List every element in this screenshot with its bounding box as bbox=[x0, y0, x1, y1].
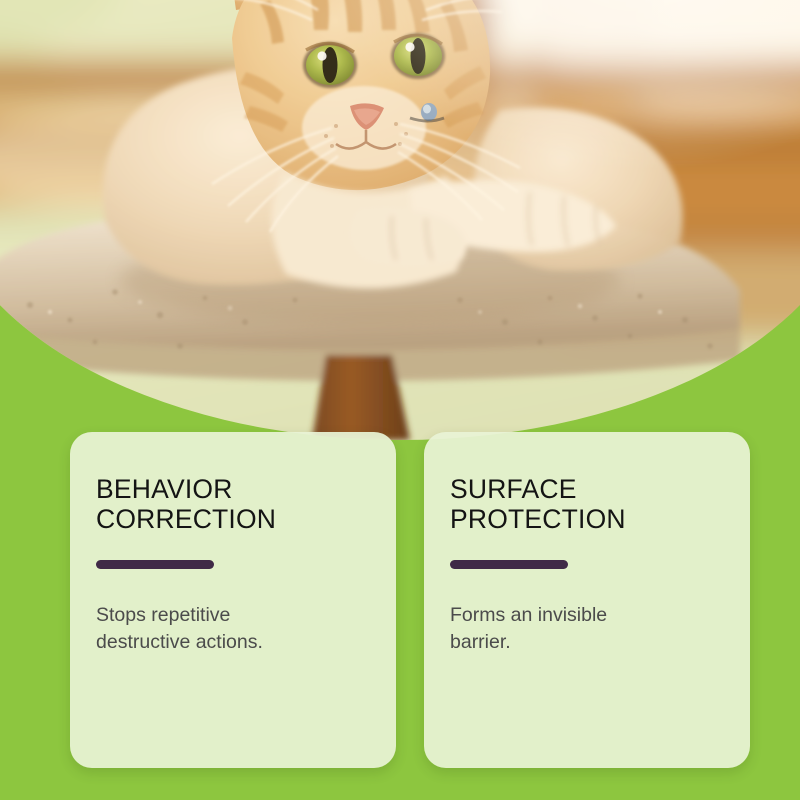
card-body-text: Forms an invisible barrier. bbox=[450, 602, 724, 656]
card-divider-rule bbox=[96, 560, 214, 569]
feature-card-behavior-correction[interactable]: BEHAVIOR CORRECTION Stops repetitive des… bbox=[70, 432, 396, 768]
poster-canvas: BEHAVIOR CORRECTION Stops repetitive des… bbox=[0, 0, 800, 800]
feature-card-group: BEHAVIOR CORRECTION Stops repetitive des… bbox=[70, 432, 750, 768]
kitten-photo-illustration bbox=[0, 0, 800, 440]
card-title: BEHAVIOR CORRECTION bbox=[96, 474, 370, 534]
card-divider-rule bbox=[450, 560, 568, 569]
feature-card-surface-protection[interactable]: SURFACE PROTECTION Forms an invisible ba… bbox=[424, 432, 750, 768]
hero-photo bbox=[0, 0, 800, 440]
card-body-text: Stops repetitive destructive actions. bbox=[96, 602, 370, 656]
card-title: SURFACE PROTECTION bbox=[450, 474, 724, 534]
